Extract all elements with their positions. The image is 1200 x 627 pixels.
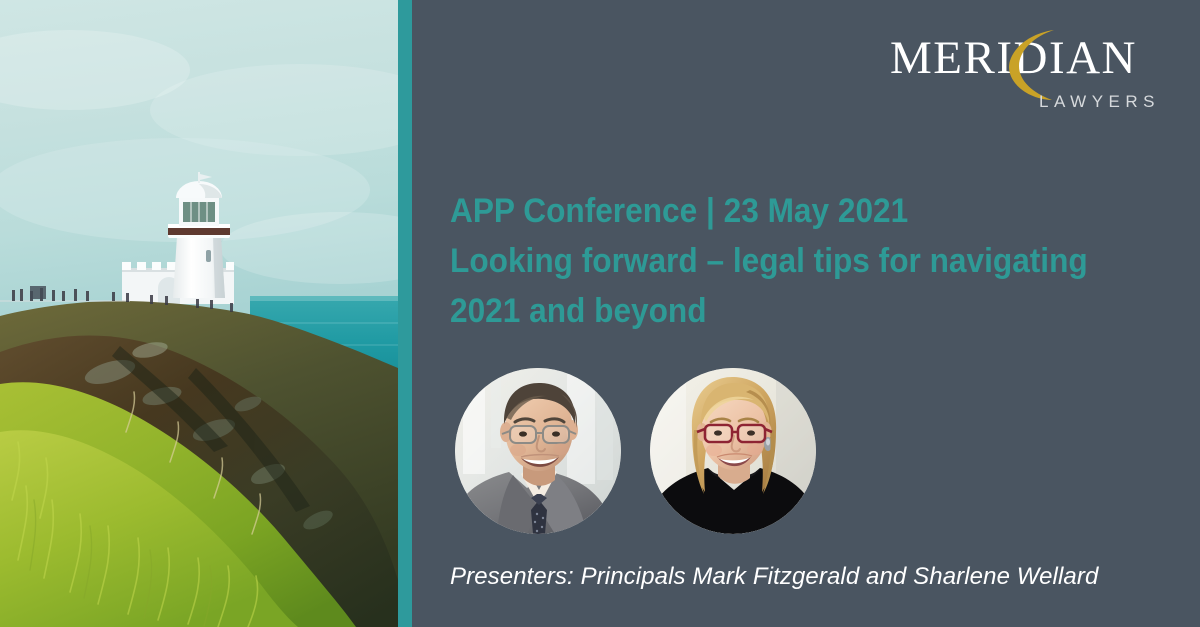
title-event-name: APP Conference xyxy=(450,192,706,230)
logo-wordmark: MERIDIAN xyxy=(890,30,1160,86)
avatar-sharlene-wellard xyxy=(650,368,816,534)
presenters-line: Presenters: Principals Mark Fitzgerald a… xyxy=(450,563,1098,591)
avatar-mark-fitzgerald xyxy=(455,368,621,534)
meridian-lawyers-logo: MERIDIAN LAWYERS xyxy=(890,30,1160,130)
lighthouse-illustration xyxy=(0,0,398,627)
title-separator: | xyxy=(706,192,715,230)
teal-divider-bar xyxy=(398,0,412,627)
content-panel: MERIDIAN LAWYERS APP Conference | 23 May… xyxy=(412,0,1200,627)
title-date: 23 May 2021 xyxy=(715,192,908,230)
title-line-2: Looking forward – legal tips for navigat… xyxy=(450,236,1138,286)
headshot-woman-portrait xyxy=(650,368,816,534)
headshot-man-portrait xyxy=(455,368,621,534)
webinar-banner: MERIDIAN LAWYERS APP Conference | 23 May… xyxy=(0,0,1200,627)
logo-subtitle: LAWYERS xyxy=(1039,92,1160,112)
hero-photo-lighthouse xyxy=(0,0,398,627)
title-line-1: APP Conference | 23 May 2021 xyxy=(450,186,1138,236)
title-line-3: 2021 and beyond xyxy=(450,286,1138,336)
event-title: APP Conference | 23 May 2021 Looking for… xyxy=(450,186,1138,336)
